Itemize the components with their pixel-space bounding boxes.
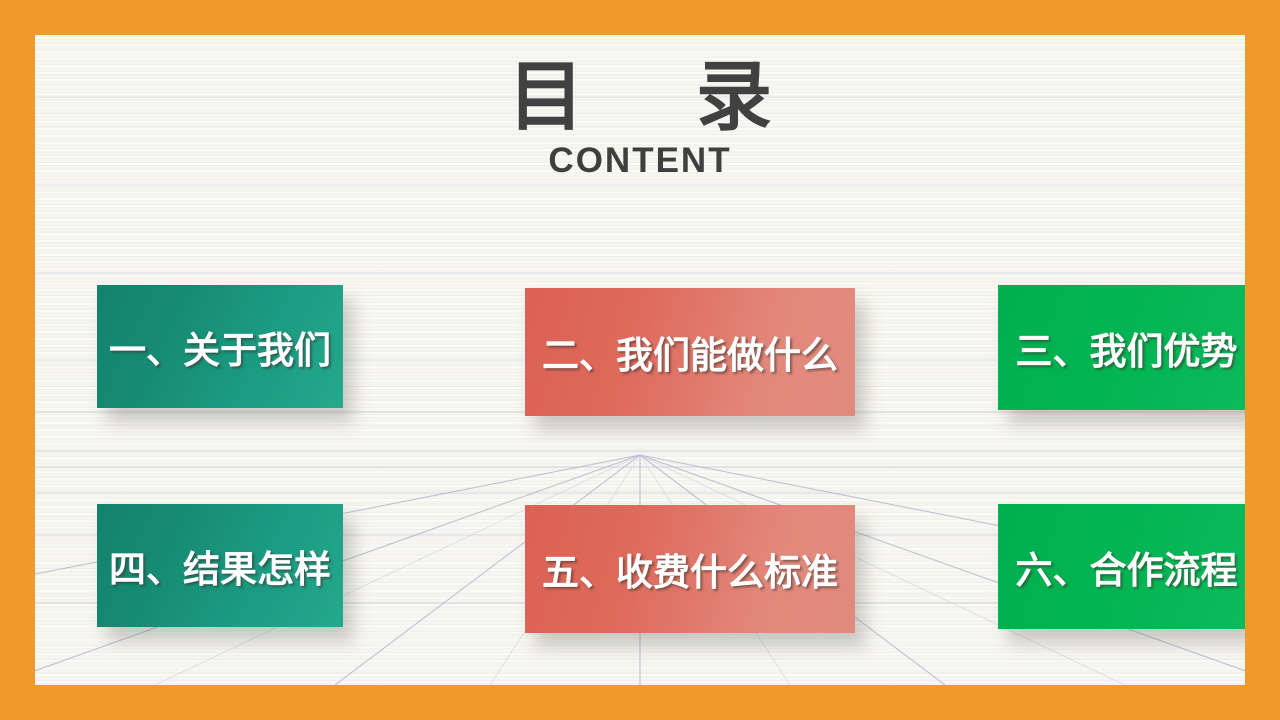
slide-canvas: 目 录 CONTENT 一、关于我们 二、我们能做什么 三、我们优势 四、结果怎… <box>0 0 1280 720</box>
page-title: 目 录 <box>35 57 1245 137</box>
content-item-1[interactable]: 一、关于我们 <box>97 285 343 408</box>
content-item-4[interactable]: 四、结果怎样 <box>97 504 343 627</box>
content-item-6[interactable]: 六、合作流程 <box>998 504 1245 629</box>
slide-inner-panel: 目 录 CONTENT 一、关于我们 二、我们能做什么 三、我们优势 四、结果怎… <box>35 35 1245 685</box>
content-item-6-label: 六、合作流程 <box>1016 540 1238 594</box>
page-title-block: 目 录 CONTENT <box>35 57 1245 181</box>
content-item-5[interactable]: 五、收费什么标准 <box>525 505 855 633</box>
content-item-4-label: 四、结果怎样 <box>109 539 331 593</box>
content-item-2-label: 二、我们能做什么 <box>542 325 838 379</box>
content-item-3[interactable]: 三、我们优势 <box>998 285 1245 410</box>
page-subtitle: CONTENT <box>35 141 1245 181</box>
content-item-5-label: 五、收费什么标准 <box>542 542 838 596</box>
content-item-2[interactable]: 二、我们能做什么 <box>525 288 855 416</box>
content-item-1-label: 一、关于我们 <box>109 320 331 374</box>
content-item-3-label: 三、我们优势 <box>1016 321 1238 375</box>
